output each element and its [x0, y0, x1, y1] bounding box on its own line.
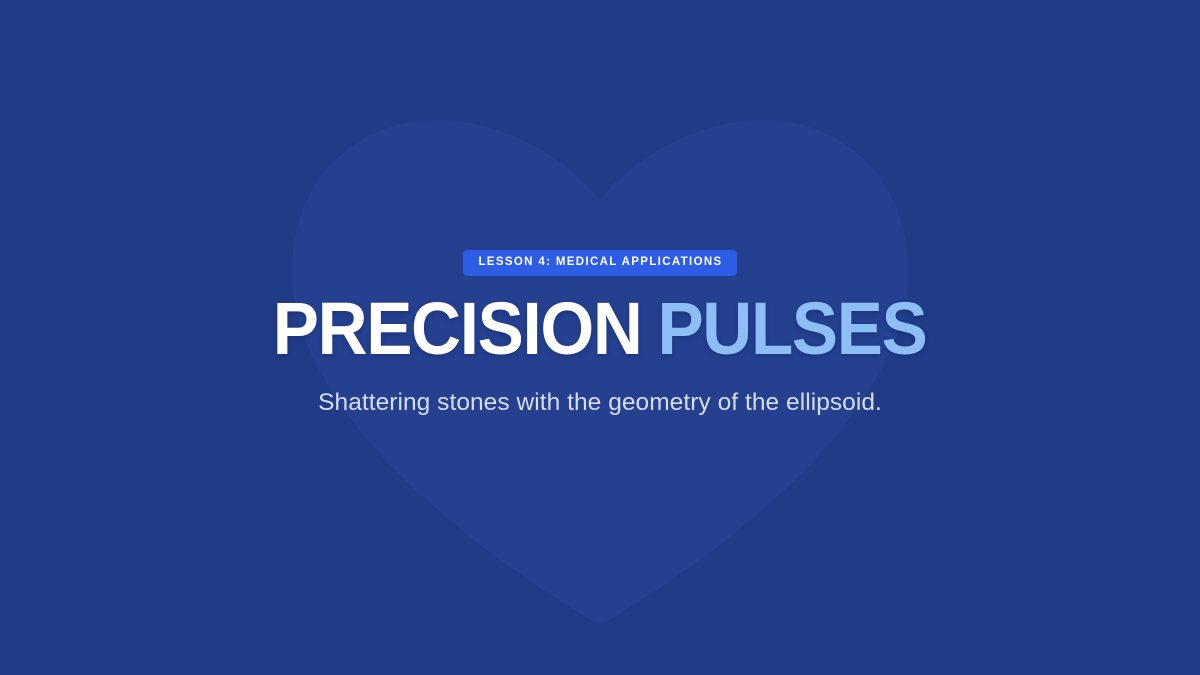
title-accent-word: PULSES — [658, 287, 927, 370]
slide-content: LESSON 4: MEDICAL APPLICATIONS PRECISION… — [0, 250, 1200, 418]
page-title: PRECISIONPULSES — [273, 292, 927, 366]
page-subtitle: Shattering stones with the geometry of t… — [318, 388, 882, 419]
lesson-badge: LESSON 4: MEDICAL APPLICATIONS — [463, 250, 736, 276]
title-slide: LESSON 4: MEDICAL APPLICATIONS PRECISION… — [0, 0, 1200, 675]
title-primary-word: PRECISION — [273, 287, 642, 370]
